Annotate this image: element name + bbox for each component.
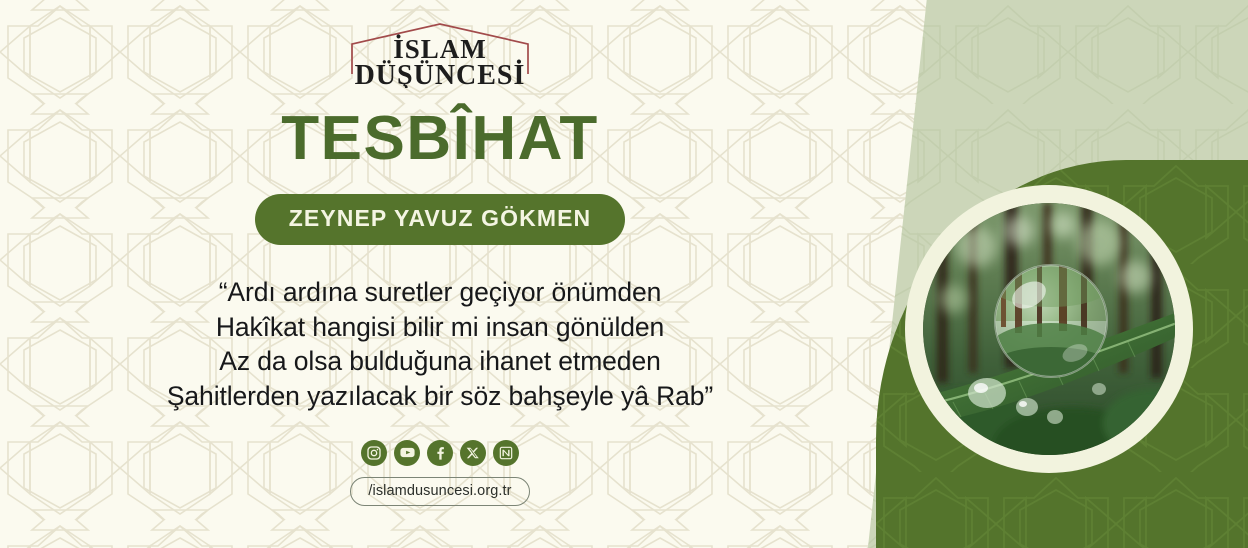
photo-ring	[905, 185, 1193, 473]
facebook-icon[interactable]	[427, 440, 453, 466]
website-url[interactable]: /islamdusuncesi.org.tr	[350, 477, 529, 506]
poem-line: “Ardı ardına suretler geçiyor önümden	[167, 275, 713, 310]
water-droplet-on-leaf-photo	[923, 203, 1175, 455]
youtube-icon[interactable]	[394, 440, 420, 466]
social-links	[361, 440, 519, 466]
poem-line: Şahitlerden yazılacak bir söz bahşeyle y…	[167, 379, 713, 414]
poem-text: “Ardı ardına suretler geçiyor önümden Ha…	[167, 275, 713, 414]
brand-logo: İSLAM DÜŞÜNCESİ	[340, 22, 540, 88]
logo-line-2: DÜŞÜNCESİ	[355, 60, 526, 88]
page-title: TESBÎHAT	[281, 108, 598, 170]
content-column: İSLAM DÜŞÜNCESİ TESBÎHAT ZEYNEP YAVUZ GÖ…	[0, 0, 880, 548]
tesbihat-banner: İSLAM DÜŞÜNCESİ TESBÎHAT ZEYNEP YAVUZ GÖ…	[0, 0, 1248, 548]
author-badge: ZEYNEP YAVUZ GÖKMEN	[255, 194, 626, 245]
instagram-icon[interactable]	[361, 440, 387, 466]
poem-line: Az da olsa bulduğuna ihanet etmeden	[167, 344, 713, 379]
linkedin-icon[interactable]	[493, 440, 519, 466]
poem-line: Hakîkat hangisi bilir mi insan gönülden	[167, 310, 713, 345]
x-twitter-icon[interactable]	[460, 440, 486, 466]
